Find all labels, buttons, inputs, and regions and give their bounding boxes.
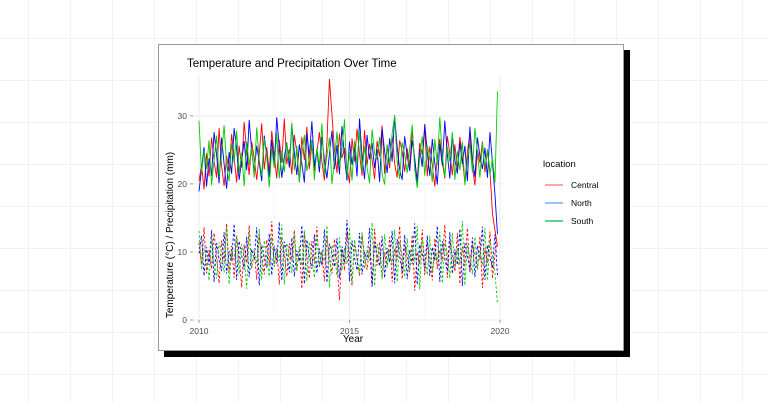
y-tick-label: 10 [178, 247, 188, 257]
legend-title: location [543, 159, 576, 170]
y-tick-label: 30 [178, 111, 188, 121]
legend-label-south: South [571, 216, 593, 226]
legend-label-north: North [571, 198, 592, 208]
plot-card: Temperature and Precipitation Over Time … [158, 44, 624, 351]
legend-label-central: Central [571, 180, 599, 190]
x-tick-label: 2010 [190, 326, 209, 336]
x-tick-label: 2020 [491, 326, 510, 336]
x-axis-title: Year [343, 334, 364, 345]
panel-background [159, 45, 623, 350]
temperature-precipitation-chart: Temperature and Precipitation Over Time … [159, 45, 623, 350]
y-tick-label: 20 [178, 179, 188, 189]
y-tick-label: 0 [182, 315, 187, 325]
chart-title: Temperature and Precipitation Over Time [187, 58, 397, 70]
y-axis-title: Temperature (°C) / Precipitation (mm) [165, 152, 176, 318]
